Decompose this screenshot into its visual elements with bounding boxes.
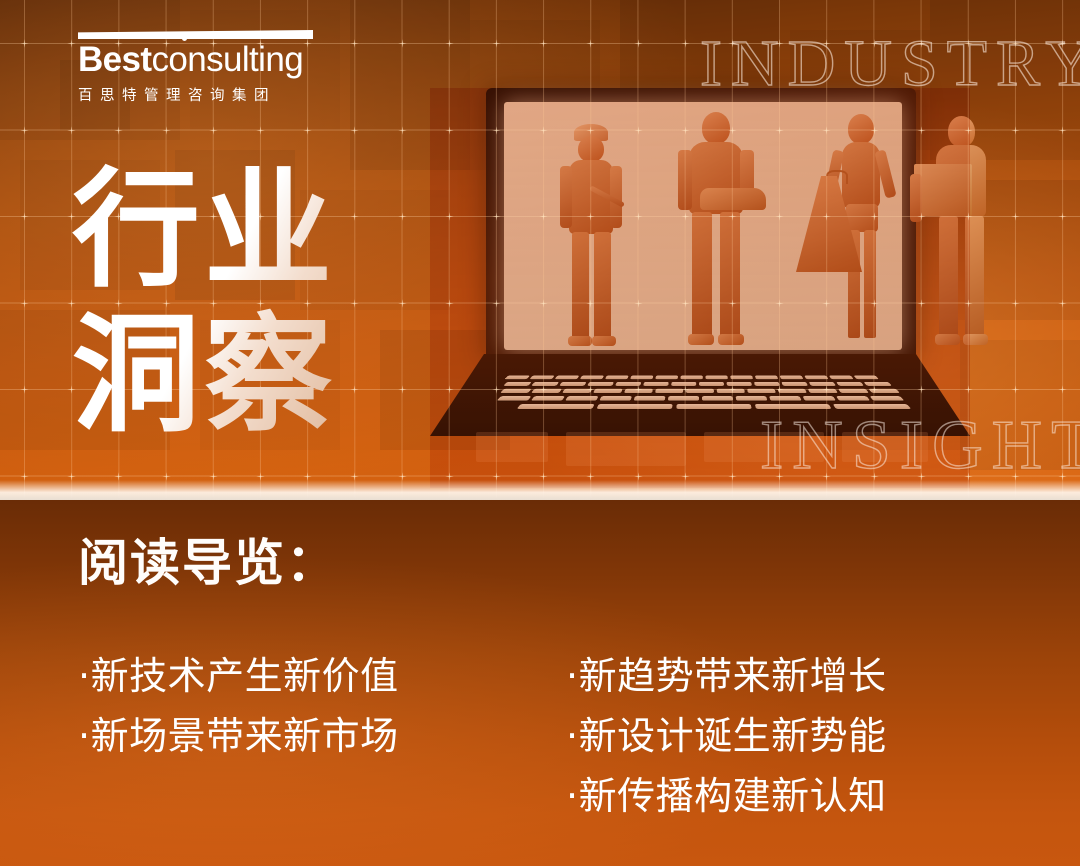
watermark-industry: INDUSTRY (700, 26, 1080, 102)
watermark-insight: INSIGHT (760, 406, 1080, 486)
page-title-line-1: 行业 (72, 156, 336, 305)
logo-dot-icon (182, 36, 187, 41)
guide-item-left-2: ·新场景带来新市场 (78, 706, 399, 766)
guide-title: 阅读导览： (78, 535, 338, 591)
poster-root: INDUSTRY INSIGHT Bestconsulting 百思特管理咨询集… (0, 0, 1080, 866)
brand-logo: Bestconsulting 百思特管理咨询集团 (78, 30, 313, 105)
hero-section: INDUSTRY INSIGHT Bestconsulting 百思特管理咨询集… (0, 0, 1080, 500)
logo-bar-icon (78, 30, 313, 39)
guide-item-right-2: ·新设计诞生新势能 (566, 706, 887, 766)
logo-word-light: consulting (151, 40, 303, 79)
guide-item-left-1: ·新技术产生新价值 (78, 646, 399, 706)
guide-section: 阅读导览： ·新技术产生新价值·新场景带来新市场 ·新趋势带来新增长·新设计诞生… (0, 500, 1080, 866)
guide-column-left: ·新技术产生新价值·新场景带来新市场 (78, 646, 399, 766)
page-title-line-2: 洞察 (72, 303, 336, 448)
logo-word-bold: Best (78, 40, 151, 79)
guide-column-right: ·新趋势带来新增长·新设计诞生新势能·新传播构建新认知 (566, 646, 887, 826)
page-title: 行业 洞察 (72, 158, 336, 448)
guide-item-right-3: ·新传播构建新认知 (566, 766, 887, 826)
logo-wordmark: Bestconsulting (78, 41, 313, 79)
guide-item-right-1: ·新趋势带来新增长 (566, 646, 887, 706)
hero-bottom-fade (0, 480, 1080, 500)
logo-subtitle: 百思特管理咨询集团 (78, 84, 313, 105)
